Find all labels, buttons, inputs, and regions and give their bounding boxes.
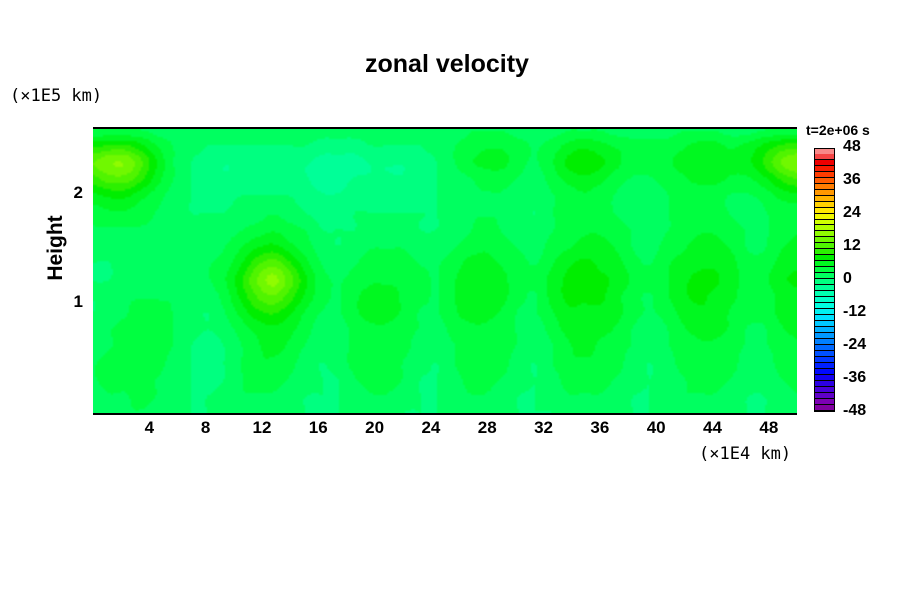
- colorbar-tick-label: 12: [843, 237, 889, 255]
- colorbar-tick-label: -36: [843, 369, 889, 387]
- x-axis-tick-label: 24: [411, 418, 451, 438]
- y-axis-title: Height: [44, 188, 68, 308]
- heatmap-plot-area: [93, 127, 797, 415]
- x-axis-tick-label: 40: [636, 418, 676, 438]
- page-title: zonal velocity: [0, 50, 894, 79]
- colorbar-tick-label: 48: [843, 138, 889, 156]
- time-annotation: t=2e+06 s: [806, 122, 870, 138]
- x-axis-tick-label: 20: [355, 418, 395, 438]
- colorbar-tick-label: -24: [843, 336, 889, 354]
- colorbar: [814, 148, 835, 412]
- y-axis-unit-label: (×1E5 km): [10, 86, 102, 106]
- x-axis-tick-label: 4: [129, 418, 169, 438]
- x-axis-tick-label: 44: [693, 418, 733, 438]
- colorbar-tick-label: 36: [843, 171, 889, 189]
- y-axis-tick-label: 2: [59, 183, 83, 203]
- chart-page: zonal velocity (×1E5 km) Height 12 48121…: [0, 0, 900, 600]
- colorbar-tick-label: -48: [843, 402, 889, 420]
- x-axis-tick-label: 8: [186, 418, 226, 438]
- x-axis-tick-label: 48: [749, 418, 789, 438]
- x-axis-tick-label: 16: [298, 418, 338, 438]
- heatmap-field: [93, 129, 797, 413]
- y-axis-tick-label: 1: [59, 292, 83, 312]
- x-axis-tick-label: 32: [524, 418, 564, 438]
- x-axis-unit-label: (×1E4 km): [699, 444, 791, 464]
- colorbar-tick-label: 24: [843, 204, 889, 222]
- x-axis-tick-label: 12: [242, 418, 282, 438]
- x-axis-tick-label: 28: [467, 418, 507, 438]
- colorbar-band: [815, 405, 834, 411]
- colorbar-tick-label: -12: [843, 303, 889, 321]
- colorbar-tick-label: 0: [843, 270, 889, 288]
- x-axis-tick-label: 36: [580, 418, 620, 438]
